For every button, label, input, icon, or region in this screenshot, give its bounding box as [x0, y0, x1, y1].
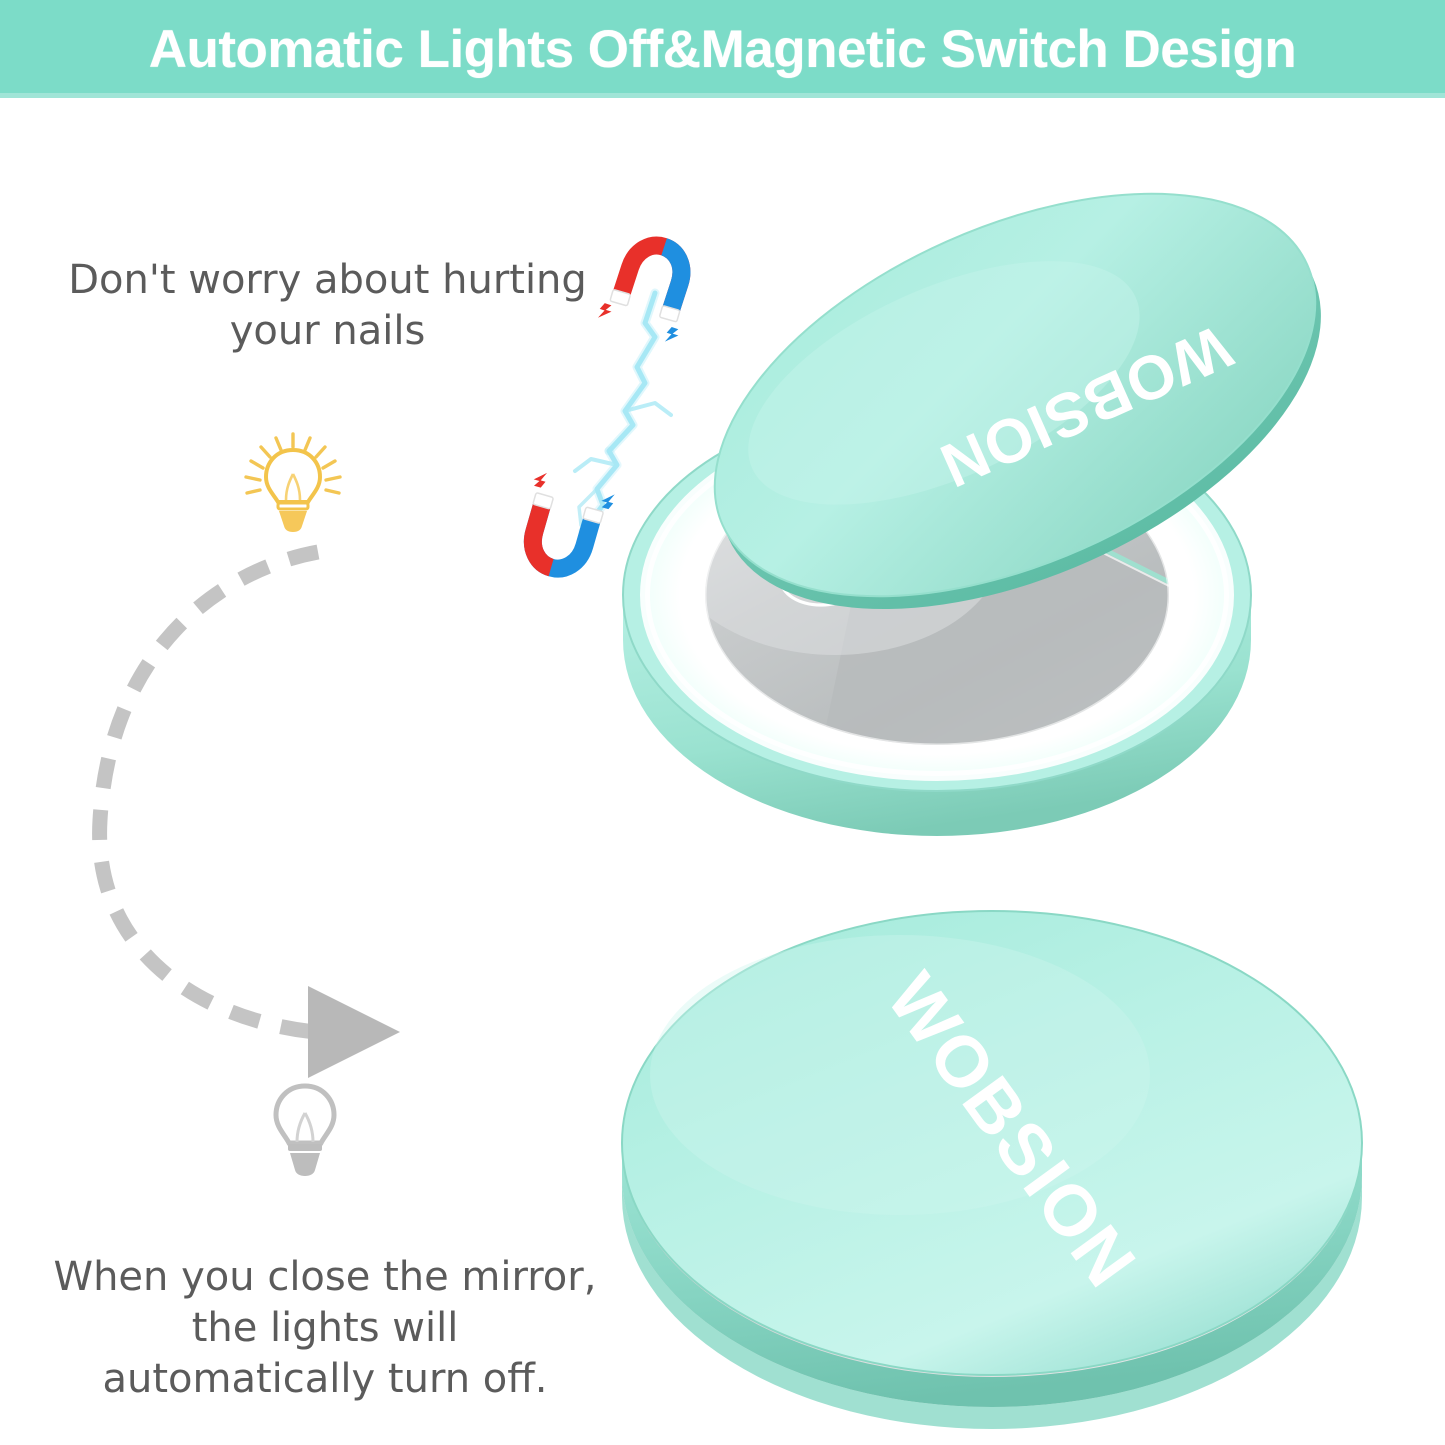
- curved-dashed-arrow-icon: [70, 520, 440, 1090]
- lightbulb-off-icon: [265, 1082, 345, 1180]
- page-title: Automatic Lights Off&Magnetic Switch Des…: [149, 19, 1297, 80]
- compact-mirror-open: WOBSION: [585, 140, 1395, 830]
- header-banner: Automatic Lights Off&Magnetic Switch Des…: [0, 0, 1445, 98]
- caption-auto-off: When you close the mirror, the lights wi…: [45, 1252, 605, 1406]
- compact-mirror-closed: WOBSION: [600, 845, 1390, 1445]
- product-feature-image: Automatic Lights Off&Magnetic Switch Des…: [0, 0, 1445, 1445]
